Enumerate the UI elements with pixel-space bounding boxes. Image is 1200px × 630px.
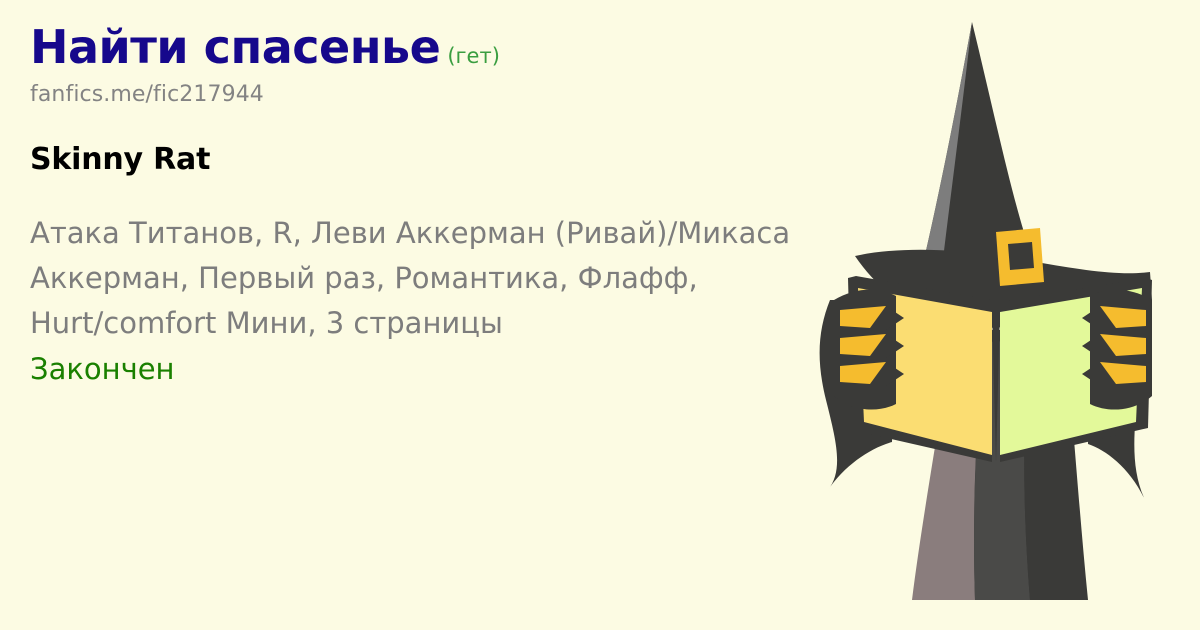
status-badge: Закончен — [30, 347, 830, 392]
witch-hat — [855, 22, 1152, 328]
story-title: Найти спасенье — [30, 20, 440, 74]
author-name: Skinny Rat — [30, 142, 850, 177]
story-tags: Атака Титанов, R, Леви Аккерман (Ривай)/… — [30, 216, 799, 340]
story-category-label: (гет) — [447, 44, 500, 68]
story-meta-block: Атака Титанов, R, Леви Аккерман (Ривай)/… — [30, 211, 830, 392]
text-column: Найти спасенье(гет) fanfics.me/fic217944… — [30, 24, 850, 392]
page-title: Найти спасенье(гет) — [30, 24, 850, 70]
site-url: fanfics.me/fic217944 — [30, 82, 850, 107]
witch-right-hand — [1082, 290, 1152, 410]
witch-reading-book-illustration — [800, 0, 1200, 630]
social-preview-card: Найти спасенье(гет) fanfics.me/fic217944… — [0, 0, 1200, 630]
